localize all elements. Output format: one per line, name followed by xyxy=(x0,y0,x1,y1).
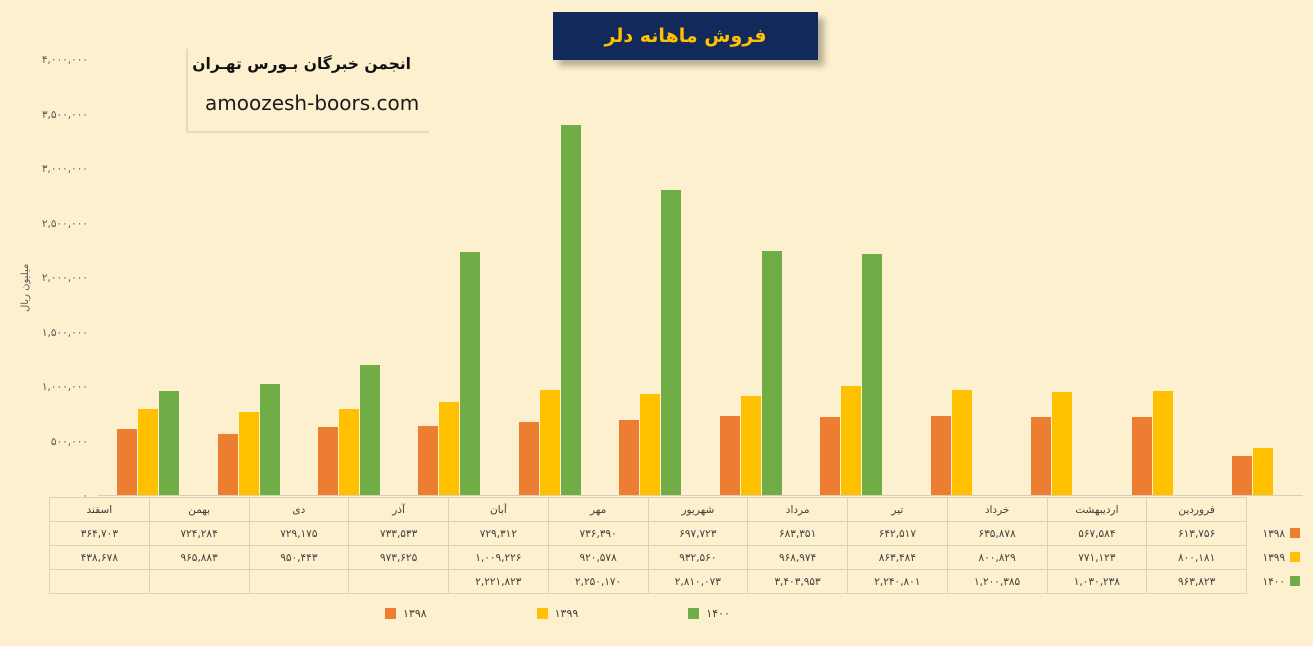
y-axis: ۴,۰۰۰,۰۰۰۳,۵۰۰,۰۰۰۳,۰۰۰,۰۰۰۲,۵۰۰,۰۰۰۲,۰۰… xyxy=(0,60,96,496)
bar-group xyxy=(901,60,1001,496)
table-cell: ۶۳۵,۸۷۸ xyxy=(947,522,1047,546)
bar-۱۴۰۰-آبان[interactable] xyxy=(862,254,882,496)
table-cell: ۱,۰۳۰,۲۳۸ xyxy=(1047,570,1147,594)
table-cell: ۹۶۳,۸۲۳ xyxy=(1147,570,1247,594)
table-cell: ۷۲۹,۱۷۵ xyxy=(249,522,349,546)
table-column-header: مرداد xyxy=(748,498,848,522)
table-cell: ۷۷۱,۱۲۳ xyxy=(1047,546,1147,570)
table-cell: ۶۱۳,۷۵۶ xyxy=(1147,522,1247,546)
y-axis-tick-label: ۱,۰۰۰,۰۰۰ xyxy=(42,381,88,393)
y-axis-tick-label: ۱,۵۰۰,۰۰۰ xyxy=(42,327,88,339)
bar-۱۳۹۸-آذر[interactable] xyxy=(931,416,951,496)
table-column-header: آذر xyxy=(349,498,449,522)
table-cell: ۷۳۳,۵۳۳ xyxy=(349,522,449,546)
bar-۱۴۰۰-شهریور[interactable] xyxy=(661,190,681,496)
plot-area xyxy=(98,60,1303,496)
table-cell: ۸۰۰,۱۸۱ xyxy=(1147,546,1247,570)
table-column-header: اسفند xyxy=(50,498,150,522)
table-cell: ۹۶۵,۸۸۳ xyxy=(149,546,249,570)
bar-۱۳۹۸-دی[interactable] xyxy=(1031,417,1051,496)
bar-۱۳۹۸-تیر[interactable] xyxy=(418,426,438,496)
bar-۱۴۰۰-فروردین[interactable] xyxy=(159,391,179,496)
table-cell: ۹۵۰,۴۴۳ xyxy=(249,546,349,570)
bar-۱۴۰۰-تیر[interactable] xyxy=(460,252,480,496)
bar-۱۳۹۹-مرداد[interactable] xyxy=(540,390,560,496)
legend-color-key-icon xyxy=(385,608,396,619)
y-axis-tick-label: ۲,۵۰۰,۰۰۰ xyxy=(42,218,88,230)
bar-۱۳۹۸-بهمن[interactable] xyxy=(1132,417,1152,496)
table-cell xyxy=(349,570,449,594)
table-cell: ۷۲۹,۳۱۲ xyxy=(449,522,549,546)
bar-۱۳۹۹-تیر[interactable] xyxy=(439,402,459,496)
bar-۱۳۹۸-شهریور[interactable] xyxy=(619,420,639,496)
bar-۱۳۹۸-فروردین[interactable] xyxy=(117,429,137,496)
table-column-header: شهریور xyxy=(648,498,748,522)
bar-group xyxy=(299,60,399,496)
chart-legend: ۱۳۹۸۱۳۹۹۱۴۰۰ xyxy=(385,603,730,623)
legend-item[interactable]: ۱۳۹۸ xyxy=(385,607,427,620)
legend-color-key-icon xyxy=(537,608,548,619)
y-axis-tick-label: ۵۰۰,۰۰۰ xyxy=(51,436,88,448)
legend-swatch-icon xyxy=(1290,552,1300,562)
legend-swatch-icon xyxy=(1290,576,1300,586)
table-cell: ۸۰۰,۸۲۹ xyxy=(947,546,1047,570)
page-title: فروش ماهانه دلر xyxy=(604,25,766,47)
table-column-header: فروردین xyxy=(1147,498,1247,522)
legend-label: ۱۳۹۹ xyxy=(555,607,579,620)
bar-۱۴۰۰-خرداد[interactable] xyxy=(360,365,380,496)
legend-label: ۱۳۹۸ xyxy=(403,607,427,620)
table-cell: ۲,۲۵۰,۱۷۰ xyxy=(548,570,648,594)
bar-۱۳۹۹-بهمن[interactable] xyxy=(1153,391,1173,496)
bar-group xyxy=(1002,60,1102,496)
bar-group xyxy=(198,60,298,496)
table-cell xyxy=(249,570,349,594)
table-row-header-label: ۱۳۹۹ xyxy=(1262,552,1285,564)
table-cell: ۲,۲۲۱,۸۲۳ xyxy=(449,570,549,594)
table-row-header: ۱۳۹۸ xyxy=(1247,522,1303,546)
bar-۱۳۹۹-شهریور[interactable] xyxy=(640,394,660,496)
legend-swatch-icon xyxy=(1290,528,1300,538)
table-cell: ۶۸۳,۳۵۱ xyxy=(748,522,848,546)
table-cell: ۷۲۴,۲۸۴ xyxy=(149,522,249,546)
bar-۱۳۹۸-مهر[interactable] xyxy=(720,416,740,496)
table-cell: ۵۶۷,۵۸۴ xyxy=(1047,522,1147,546)
table-column-header: خرداد xyxy=(947,498,1047,522)
bar-۱۳۹۹-مهر[interactable] xyxy=(741,396,761,496)
legend-color-key-icon xyxy=(688,608,699,619)
bar-۱۴۰۰-مرداد[interactable] xyxy=(561,125,581,496)
bar-۱۳۹۹-آذر[interactable] xyxy=(952,390,972,496)
table-row: ۱۴۰۰۹۶۳,۸۲۳۱,۰۳۰,۲۳۸۱,۲۰۰,۳۸۵۲,۲۴۰,۸۰۱۳,… xyxy=(50,570,1303,594)
table-cell: ۲,۸۱۰,۰۷۳ xyxy=(648,570,748,594)
table-cell: ۶۹۷,۷۲۳ xyxy=(648,522,748,546)
bar-۱۳۹۹-فروردین[interactable] xyxy=(138,409,158,496)
bar-group xyxy=(600,60,700,496)
y-axis-tick-label: ۲,۰۰۰,۰۰۰ xyxy=(42,272,88,284)
chart-title-banner: فروش ماهانه دلر xyxy=(553,12,818,60)
table-row: ۱۳۹۸۶۱۳,۷۵۶۵۶۷,۵۸۴۶۳۵,۸۷۸۶۴۲,۵۱۷۶۸۳,۳۵۱۶… xyxy=(50,522,1303,546)
y-axis-tick-label: ۴,۰۰۰,۰۰۰ xyxy=(42,54,88,66)
table-cell: ۴۳۸,۶۷۸ xyxy=(50,546,150,570)
table-corner-cell xyxy=(1247,498,1303,522)
table-cell: ۹۲۰,۵۷۸ xyxy=(548,546,648,570)
bar-group xyxy=(500,60,600,496)
x-axis-baseline xyxy=(98,495,1303,496)
table-row-header: ۱۳۹۹ xyxy=(1247,546,1303,570)
table-cell: ۶۴۲,۵۱۷ xyxy=(848,522,948,546)
table-cell: ۷۳۶,۳۹۰ xyxy=(548,522,648,546)
table-row: ۱۳۹۹۸۰۰,۱۸۱۷۷۱,۱۲۳۸۰۰,۸۲۹۸۶۳,۴۸۴۹۶۸,۹۷۴۹… xyxy=(50,546,1303,570)
table-cell: ۳۶۴,۷۰۳ xyxy=(50,522,150,546)
bar-۱۳۹۹-دی[interactable] xyxy=(1052,392,1072,496)
table-column-header: بهمن xyxy=(149,498,249,522)
table-cell: ۲,۲۴۰,۸۰۱ xyxy=(848,570,948,594)
y-axis-title: میلیون ریال xyxy=(20,264,31,312)
bar-۱۳۹۹-اسفند[interactable] xyxy=(1253,448,1273,496)
table-row-header: ۱۴۰۰ xyxy=(1247,570,1303,594)
table-cell: ۹۳۲,۵۶۰ xyxy=(648,546,748,570)
table-cell xyxy=(149,570,249,594)
bar-group xyxy=(98,60,198,496)
legend-label: ۱۴۰۰ xyxy=(706,607,730,620)
bar-۱۴۰۰-مهر[interactable] xyxy=(762,251,782,496)
bar-۱۴۰۰-اردیبهشت[interactable] xyxy=(260,384,280,496)
y-axis-tick-label: ۳,۰۰۰,۰۰۰ xyxy=(42,163,88,175)
bar-۱۳۹۸-خرداد[interactable] xyxy=(318,427,338,496)
table-column-header: دی xyxy=(249,498,349,522)
table-row-header-label: ۱۳۹۸ xyxy=(1262,528,1285,540)
table-row-header-label: ۱۴۰۰ xyxy=(1262,576,1285,588)
table-cell: ۸۶۳,۴۸۴ xyxy=(848,546,948,570)
table-cell: ۹۶۸,۹۷۴ xyxy=(748,546,848,570)
table-cell xyxy=(50,570,150,594)
table-cell: ۳,۴۰۳,۹۵۳ xyxy=(748,570,848,594)
bar-۱۳۹۹-اردیبهشت[interactable] xyxy=(239,412,259,496)
bar-group xyxy=(1203,60,1303,496)
table-header-row: فروردیناردیبهشتخردادتیرمردادشهریورمهرآبا… xyxy=(50,498,1303,522)
bar-۱۳۹۸-آبان[interactable] xyxy=(820,417,840,496)
legend-item[interactable]: ۱۳۹۹ xyxy=(537,607,579,620)
bar-group xyxy=(1102,60,1202,496)
bar-group xyxy=(399,60,499,496)
table-cell: ۱,۰۰۹,۲۲۶ xyxy=(449,546,549,570)
y-axis-tick-label: ۳,۵۰۰,۰۰۰ xyxy=(42,109,88,121)
chart-page: فروش ماهانه دلر انجمن خبرگان بـورس تهـرا… xyxy=(0,0,1313,646)
bar-۱۳۹۸-اردیبهشت[interactable] xyxy=(218,434,238,496)
table-cell: ۱,۲۰۰,۳۸۵ xyxy=(947,570,1047,594)
bar-۱۳۹۸-مرداد[interactable] xyxy=(519,422,539,496)
table-column-header: آبان xyxy=(449,498,549,522)
bar-۱۳۹۸-اسفند[interactable] xyxy=(1232,456,1252,496)
bar-group xyxy=(801,60,901,496)
legend-item[interactable]: ۱۴۰۰ xyxy=(688,607,730,620)
data-table: فروردیناردیبهشتخردادتیرمردادشهریورمهرآبا… xyxy=(49,497,1302,594)
bar-group xyxy=(701,60,801,496)
table-cell: ۹۷۳,۶۲۵ xyxy=(349,546,449,570)
bar-۱۳۹۹-آبان[interactable] xyxy=(841,386,861,496)
table-column-header: اردیبهشت xyxy=(1047,498,1147,522)
table-column-header: تیر xyxy=(848,498,948,522)
bar-۱۳۹۹-خرداد[interactable] xyxy=(339,409,359,496)
table-column-header: مهر xyxy=(548,498,648,522)
